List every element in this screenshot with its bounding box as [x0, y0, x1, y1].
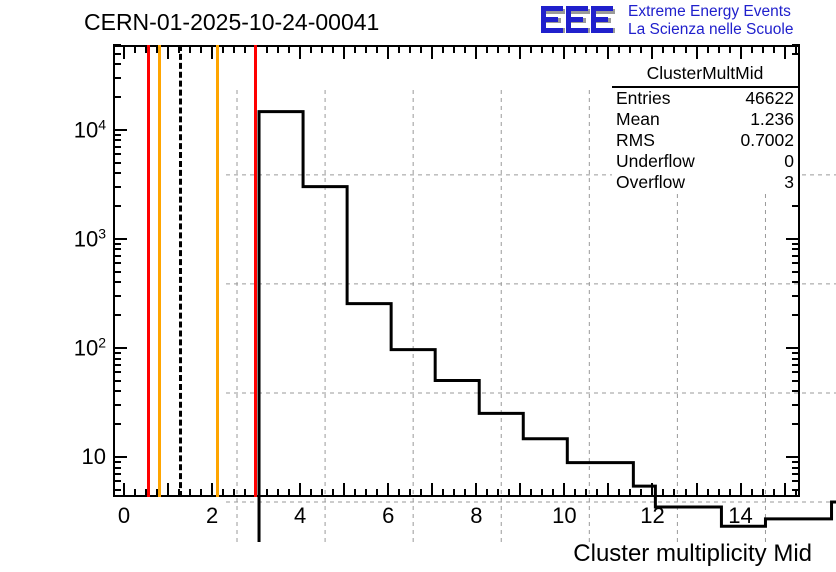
x-tick-top — [420, 45, 422, 53]
x-tick-top — [762, 45, 764, 53]
y-tick — [113, 53, 121, 55]
y-tick-right — [792, 314, 800, 316]
x-tick — [662, 489, 664, 497]
x-tick — [288, 489, 290, 497]
x-tick — [707, 489, 709, 497]
x-tick-top — [596, 45, 598, 53]
x-tick-top — [387, 45, 389, 59]
x-tick-top — [167, 45, 169, 59]
y-tick-right — [792, 467, 800, 469]
x-tick — [596, 489, 598, 497]
y-tick-right — [792, 295, 800, 297]
x-tick-top — [707, 45, 709, 53]
stats-row-overflow: Overflow 3 — [612, 172, 798, 193]
y-tick — [113, 186, 121, 188]
x-tick — [740, 483, 742, 497]
y-tick-right — [786, 238, 800, 240]
stats-row-entries: Entries 46622 — [612, 88, 798, 109]
y-tick — [113, 480, 121, 482]
x-axis-title: Cluster multiplicity Mid — [573, 540, 812, 568]
x-tick-top — [629, 45, 631, 53]
y-tick-right — [792, 352, 800, 354]
x-tick — [321, 489, 323, 497]
y-tick-right — [792, 243, 800, 245]
y-tick-label: 102 — [40, 334, 106, 361]
y-tick — [113, 489, 121, 491]
x-tick-top — [508, 45, 510, 53]
x-tick — [773, 489, 775, 497]
x-tick-top — [453, 45, 455, 53]
x-tick — [409, 489, 411, 497]
x-tick — [696, 483, 698, 497]
y-tick — [113, 347, 127, 349]
x-tick — [211, 483, 213, 497]
x-tick-label: 10 — [552, 503, 576, 529]
x-tick — [718, 489, 720, 497]
x-tick — [398, 489, 400, 497]
y-tick-right — [792, 248, 800, 250]
y-tick — [113, 172, 121, 174]
stats-value-overflow: 3 — [784, 173, 794, 192]
x-tick — [442, 489, 444, 497]
y-tick — [113, 205, 121, 207]
x-tick-label: 6 — [382, 503, 394, 529]
y-tick — [113, 456, 127, 458]
x-tick — [365, 489, 367, 497]
x-tick-top — [134, 45, 136, 53]
x-tick — [387, 483, 389, 497]
x-tick — [673, 489, 675, 497]
x-tick — [762, 489, 764, 497]
x-tick-top — [585, 45, 587, 53]
x-tick — [189, 489, 191, 497]
y-tick-right — [792, 255, 800, 257]
x-tick — [464, 489, 466, 497]
x-tick — [640, 489, 642, 497]
eee-logo-icon — [540, 4, 620, 38]
x-tick-label: 4 — [294, 503, 306, 529]
x-tick — [222, 489, 224, 497]
x-tick-label: 12 — [640, 503, 664, 529]
x-tick — [343, 483, 345, 497]
stats-value-rms: 0.7002 — [740, 131, 794, 150]
y-tick-right — [792, 371, 800, 373]
x-tick — [277, 489, 279, 497]
x-tick-top — [200, 45, 202, 53]
y-tick — [113, 271, 121, 273]
y-tick-right — [792, 44, 800, 46]
stats-key-rms: RMS — [616, 131, 655, 150]
stats-value-entries: 46622 — [745, 89, 794, 108]
x-tick — [123, 483, 125, 497]
y-tick-right — [792, 205, 800, 207]
x-tick — [475, 483, 477, 497]
y-tick — [113, 461, 121, 463]
y-tick-right — [786, 456, 800, 458]
y-tick-right — [792, 461, 800, 463]
x-tick — [486, 489, 488, 497]
x-tick-top — [277, 45, 279, 53]
x-tick — [431, 483, 433, 497]
stats-value-mean: 1.236 — [750, 110, 794, 129]
x-tick-top — [486, 45, 488, 53]
x-tick — [751, 489, 753, 497]
x-tick-top — [618, 45, 620, 53]
y-tick — [113, 129, 127, 131]
y-tick — [113, 63, 121, 65]
page-title: CERN-01-2025-10-24-00041 — [84, 9, 379, 36]
x-tick-top — [398, 45, 400, 53]
y-tick — [113, 162, 121, 164]
x-tick-label: 14 — [728, 503, 752, 529]
x-tick-top — [365, 45, 367, 53]
root-canvas: CERN-01-2025-10-24-00041 — [0, 0, 836, 572]
x-tick — [233, 489, 235, 497]
x-tick — [354, 489, 356, 497]
y-tick — [113, 364, 121, 366]
y-tick-right — [792, 262, 800, 264]
y-tick-right — [792, 53, 800, 55]
x-tick-top — [475, 45, 477, 59]
x-tick — [508, 489, 510, 497]
x-tick-top — [244, 45, 246, 53]
stats-title: ClusterMultMid — [612, 62, 798, 88]
x-tick-top — [442, 45, 444, 53]
x-tick-top — [696, 45, 698, 59]
stats-key-overflow: Overflow — [616, 173, 685, 192]
y-tick — [113, 44, 121, 46]
marker-line-mean-dashed — [179, 45, 182, 497]
y-tick-right — [792, 404, 800, 406]
x-tick — [376, 489, 378, 497]
x-tick-top — [607, 45, 609, 59]
y-tick-right — [792, 480, 800, 482]
x-tick-top — [310, 45, 312, 53]
x-tick-top — [519, 45, 521, 59]
x-tick — [530, 489, 532, 497]
y-tick — [113, 314, 121, 316]
y-tick-right — [792, 473, 800, 475]
marker-line-orange-low — [158, 45, 161, 497]
stats-row-rms: RMS 0.7002 — [612, 130, 798, 151]
stats-key-entries: Entries — [616, 89, 670, 108]
x-tick-top — [266, 45, 268, 53]
marker-line-red-low — [147, 45, 150, 497]
x-tick — [629, 489, 631, 497]
x-tick — [574, 489, 576, 497]
x-tick — [167, 483, 169, 497]
x-tick — [332, 489, 334, 497]
y-tick — [113, 153, 121, 155]
y-tick — [113, 380, 121, 382]
stats-key-mean: Mean — [616, 110, 660, 129]
x-tick-top — [321, 45, 323, 53]
x-tick-label: 0 — [118, 503, 130, 529]
x-tick — [299, 483, 301, 497]
x-tick — [200, 489, 202, 497]
y-tick — [113, 243, 121, 245]
y-tick-right — [792, 271, 800, 273]
x-tick-top — [541, 45, 543, 53]
x-tick-top — [222, 45, 224, 53]
stats-row-mean: Mean 1.236 — [612, 109, 798, 130]
x-tick-top — [784, 45, 786, 59]
x-tick-top — [464, 45, 466, 53]
x-tick — [420, 489, 422, 497]
x-tick-top — [651, 45, 653, 59]
x-tick-top — [189, 45, 191, 53]
y-tick-label: 10 — [40, 444, 106, 470]
stats-row-underflow: Underflow 0 — [612, 151, 798, 172]
x-tick-top — [751, 45, 753, 53]
x-tick-top — [376, 45, 378, 53]
x-tick-top — [685, 45, 687, 53]
x-tick-top — [552, 45, 554, 53]
x-tick-top — [574, 45, 576, 53]
x-tick-top — [673, 45, 675, 53]
x-tick-top — [718, 45, 720, 53]
marker-line-red-high — [254, 45, 257, 497]
x-tick-top — [123, 45, 125, 59]
x-tick-top — [233, 45, 235, 53]
x-tick-top — [332, 45, 334, 53]
x-tick — [134, 489, 136, 497]
x-tick-top — [773, 45, 775, 53]
eee-logo: Extreme Energy Events La Scienza nelle S… — [540, 2, 832, 42]
x-tick — [519, 483, 521, 497]
y-tick-label: 104 — [40, 116, 106, 143]
y-tick-right — [792, 281, 800, 283]
x-tick-top — [299, 45, 301, 59]
eee-logo-text: Extreme Energy Events La Scienza nelle S… — [628, 3, 793, 39]
x-tick — [651, 483, 653, 497]
x-tick-top — [354, 45, 356, 53]
y-tick — [113, 390, 121, 392]
x-tick-top — [563, 45, 565, 59]
y-tick — [113, 248, 121, 250]
y-tick — [113, 281, 121, 283]
y-tick — [113, 262, 121, 264]
x-tick — [497, 489, 499, 497]
y-tick — [113, 467, 121, 469]
x-tick — [784, 483, 786, 497]
y-tick — [113, 146, 121, 148]
x-tick-top — [409, 45, 411, 53]
x-tick-top — [740, 45, 742, 59]
x-tick — [552, 489, 554, 497]
stats-key-underflow: Underflow — [616, 152, 695, 171]
y-tick — [113, 96, 121, 98]
y-tick-right — [792, 358, 800, 360]
x-tick-top — [662, 45, 664, 53]
y-tick-right — [792, 423, 800, 425]
y-tick-right — [786, 347, 800, 349]
x-tick — [685, 489, 687, 497]
y-tick-right — [792, 380, 800, 382]
x-tick-top — [530, 45, 532, 53]
x-tick — [266, 489, 268, 497]
y-tick — [113, 295, 121, 297]
x-tick — [607, 483, 609, 497]
x-tick — [563, 483, 565, 497]
x-tick-label: 2 — [206, 503, 218, 529]
x-tick-top — [343, 45, 345, 59]
x-tick — [618, 489, 620, 497]
x-tick — [541, 489, 543, 497]
stats-box: ClusterMultMid Entries 46622 Mean 1.236 … — [612, 62, 798, 193]
x-tick-top — [729, 45, 731, 53]
x-tick-top — [288, 45, 290, 53]
eee-logo-line1: Extreme Energy Events — [628, 3, 793, 21]
x-tick — [453, 489, 455, 497]
y-tick-right — [792, 390, 800, 392]
y-tick — [113, 238, 127, 240]
eee-logo-line2: La Scienza nelle Scuole — [628, 21, 793, 39]
y-tick — [113, 473, 121, 475]
y-tick — [113, 134, 121, 136]
x-tick — [585, 489, 587, 497]
marker-line-orange-high — [216, 45, 219, 497]
x-tick — [729, 489, 731, 497]
stats-value-underflow: 0 — [784, 152, 794, 171]
x-tick — [244, 489, 246, 497]
y-tick — [113, 371, 121, 373]
y-tick-right — [792, 489, 800, 491]
y-tick-right — [792, 364, 800, 366]
y-tick — [113, 358, 121, 360]
y-tick — [113, 404, 121, 406]
x-tick-top — [640, 45, 642, 53]
x-tick-top — [497, 45, 499, 53]
y-tick — [113, 139, 121, 141]
x-tick — [310, 489, 312, 497]
x-tick-top — [211, 45, 213, 59]
x-tick-top — [431, 45, 433, 59]
y-tick — [113, 77, 121, 79]
y-tick — [113, 423, 121, 425]
y-tick-label: 103 — [40, 225, 106, 252]
y-tick — [113, 352, 121, 354]
y-tick — [113, 255, 121, 257]
x-tick-label: 8 — [470, 503, 482, 529]
